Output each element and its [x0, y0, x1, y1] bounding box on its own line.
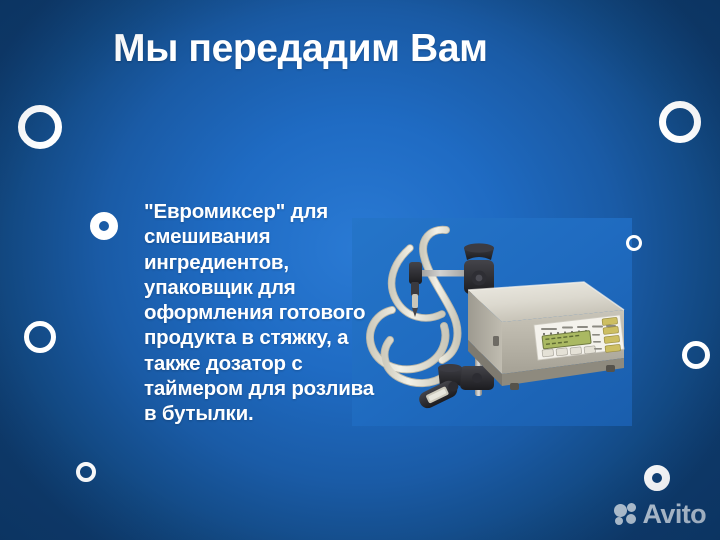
slide-body-text: "Евромиксер" для смешивания ингредиентов… — [144, 199, 380, 427]
avito-watermark: Avito — [614, 501, 707, 528]
ring-mid-right — [682, 341, 710, 369]
ring-bottom-left — [76, 462, 96, 482]
avito-brand-label: Avito — [643, 501, 707, 528]
ring-bullet-dot — [90, 212, 118, 240]
slide-canvas: Мы передадим Вам "Евромиксер" для смешив… — [0, 0, 720, 540]
product-photo — [352, 218, 632, 426]
ring-top-right — [659, 101, 701, 143]
ring-small-right — [626, 235, 642, 251]
slide-title: Мы передадим Вам — [113, 27, 488, 71]
ring-mid-left — [24, 321, 56, 353]
ring-bottom-right — [644, 465, 670, 491]
avito-dots-icon — [614, 503, 639, 526]
ring-top-left — [18, 105, 62, 149]
